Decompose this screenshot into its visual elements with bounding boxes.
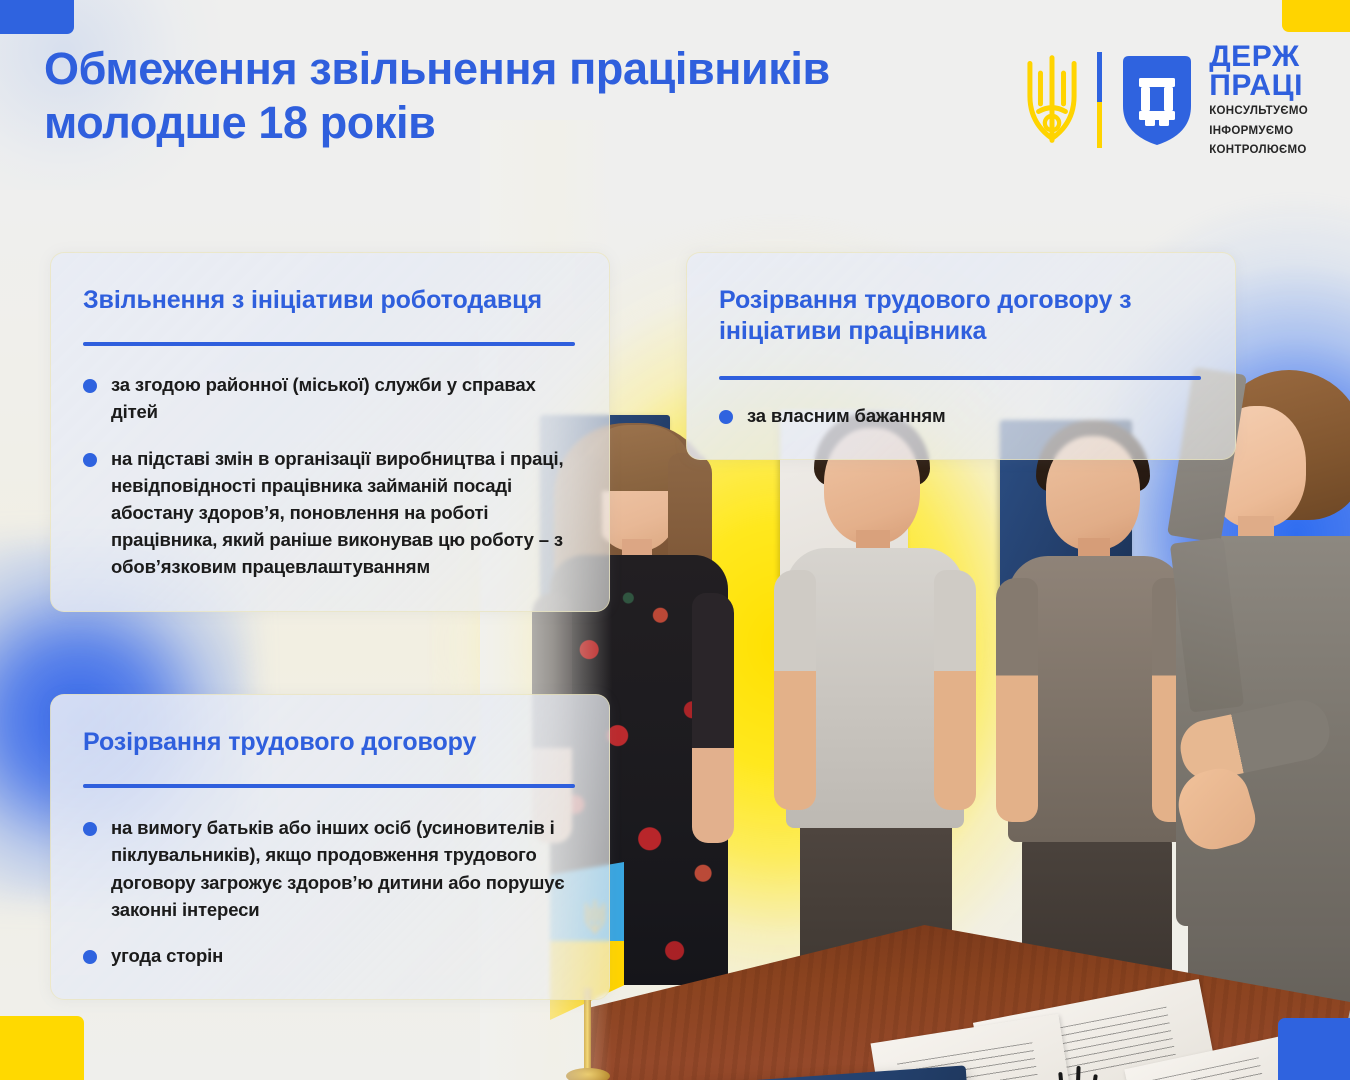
page-title: Обмеження звільнення працівників молодше… [44,42,974,150]
card-dismissal-by-employer: Звільнення з ініціативи роботодавця за з… [50,252,610,612]
list-item-text: на підставі змін в організації виробницт… [111,448,563,578]
card-bullet-list: на вимогу батьків або інших осіб (усинов… [83,814,575,969]
list-item-text: за згодою районної (міської) служби у сп… [111,374,536,422]
bullet-dot-icon [83,822,97,836]
card-divider [83,784,575,788]
logo-tagline-2: ІНФОРМУЄМО [1209,124,1308,139]
logo-tagline-3: КОНТРОЛЮЄМО [1209,143,1308,158]
derzhpratsi-shield-icon [1119,52,1195,148]
arm-right [692,593,734,843]
page-title-line-2: молодше 18 років [44,96,974,150]
logo-tagline-1: КОНСУЛЬТУЄМО [1209,104,1308,119]
corner-accent-top-right [1282,0,1350,32]
logo-divider [1097,52,1102,148]
bullet-dot-icon [719,410,733,424]
card-title: Розірвання трудового договору [83,727,575,758]
flag-base [566,1068,610,1080]
list-item-text: за власним бажанням [747,405,946,426]
list-item: на вимогу батьків або інших осіб (усинов… [83,814,575,923]
card-divider [719,376,1201,380]
bullet-dot-icon [83,379,97,393]
card-divider [83,342,575,346]
arm-left [774,570,816,810]
bullet-dot-icon [83,950,97,964]
card-title: Розірвання трудового договору з ініціати… [719,285,1201,348]
card-bullet-list: за згодою районної (міської) служби у сп… [83,371,575,580]
list-item: за власним бажанням [719,402,1201,429]
bullet-dot-icon [83,453,97,467]
corner-accent-bottom-left [0,1016,84,1080]
arm-right [934,570,976,810]
logo-word-pratsi: ПРАЦІ [1209,71,1308,100]
corner-accent-top-left [0,0,74,34]
card-title: Звільнення з ініціативи роботодавця [83,285,575,316]
card-termination-of-contract: Розірвання трудового договору на вимогу … [50,694,610,1000]
logo-word-derzh: ДЕРЖ [1209,42,1308,71]
card-termination-by-employee: Розірвання трудового договору з ініціати… [686,252,1236,460]
corner-accent-bottom-right [1278,1018,1350,1080]
list-item-text: на вимогу батьків або інших осіб (усинов… [111,817,564,920]
infographic-poster: Обмеження звільнення працівників молодше… [0,0,1350,1080]
arm-left [996,578,1038,822]
card-bullet-list: за власним бажанням [719,402,1201,429]
document-text-lines [1146,1057,1267,1080]
list-item-text: угода сторін [111,945,223,966]
list-item: на підставі змін в організації виробницт… [83,445,575,581]
logo-wordmark: ДЕРЖ ПРАЦІ КОНСУЛЬТУЄМО ІНФОРМУЄМО КОНТР… [1209,42,1308,159]
derzhpratsi-logo[interactable]: ДЕРЖ ПРАЦІ КОНСУЛЬТУЄМО ІНФОРМУЄМО КОНТР… [1023,42,1308,158]
list-item: угода сторін [83,942,575,969]
ukrainian-trident-icon [1023,52,1081,148]
flag-pole [584,988,591,1074]
page-title-line-1: Обмеження звільнення працівників [44,42,974,96]
person-hr-manager-in-suit [1180,370,1350,1080]
list-item: за згодою районної (міської) служби у сп… [83,371,575,425]
